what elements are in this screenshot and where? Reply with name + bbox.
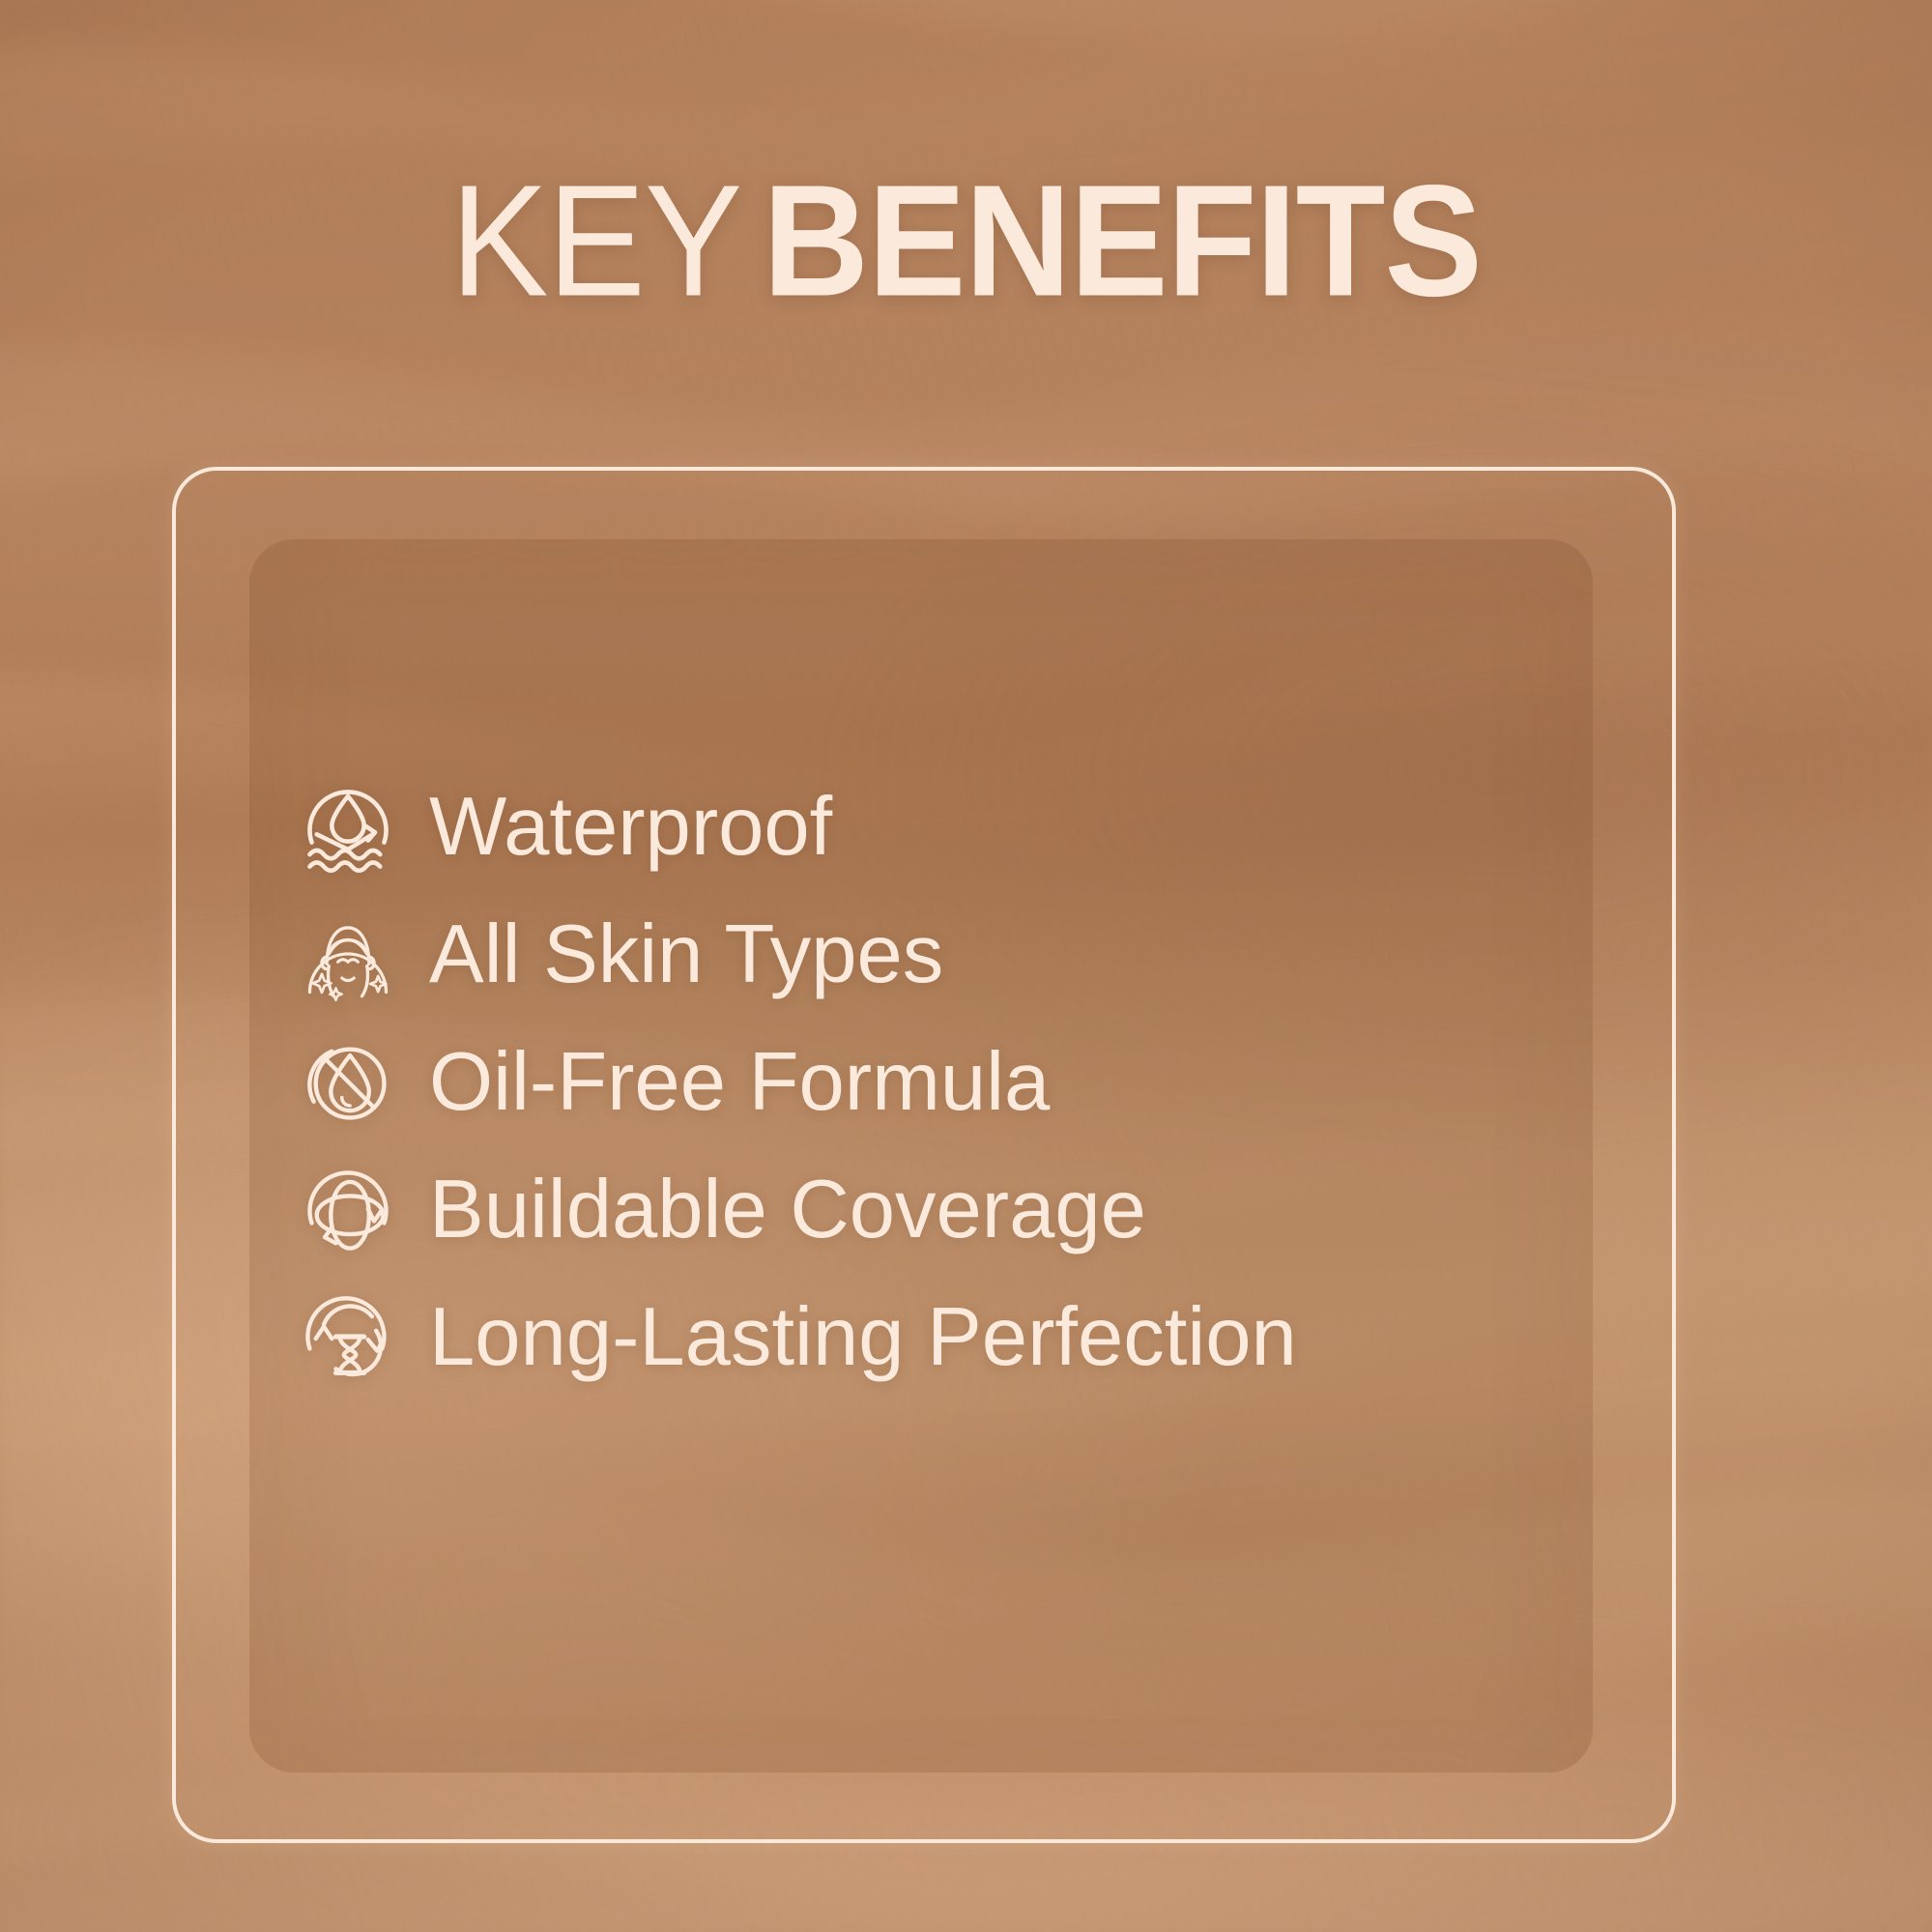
- list-item-label: Buildable Coverage: [429, 1168, 1146, 1251]
- key-benefits-graphic: KEYBENEFITS Waterproof: [0, 0, 1932, 1932]
- list-item-label: Oil-Free Formula: [429, 1041, 1050, 1123]
- no-oil-droplet-icon: [296, 1029, 400, 1134]
- page-title-key: KEY: [450, 169, 741, 315]
- list-item: Long-Lasting Perfection: [296, 1283, 1591, 1390]
- waterproof-droplet-waves-icon: [296, 774, 400, 879]
- benefits-list: Waterproof: [296, 773, 1591, 1390]
- list-item: Waterproof: [296, 773, 1591, 879]
- hourglass-rotation-icon: [296, 1284, 400, 1389]
- face-sparkle-skin-types-icon: [296, 902, 400, 1006]
- page-title: KEYBENEFITS: [0, 180, 1932, 315]
- list-item-label: Long-Lasting Perfection: [429, 1296, 1297, 1378]
- list-item-label: Waterproof: [429, 786, 832, 868]
- orbit-arrows-buildable-icon: [296, 1157, 400, 1261]
- page-title-benefits: BENEFITS: [763, 169, 1482, 315]
- list-item: Buildable Coverage: [296, 1156, 1591, 1262]
- list-item-label: All Skin Types: [429, 913, 943, 995]
- list-item: Oil-Free Formula: [296, 1028, 1591, 1135]
- list-item: All Skin Types: [296, 901, 1591, 1007]
